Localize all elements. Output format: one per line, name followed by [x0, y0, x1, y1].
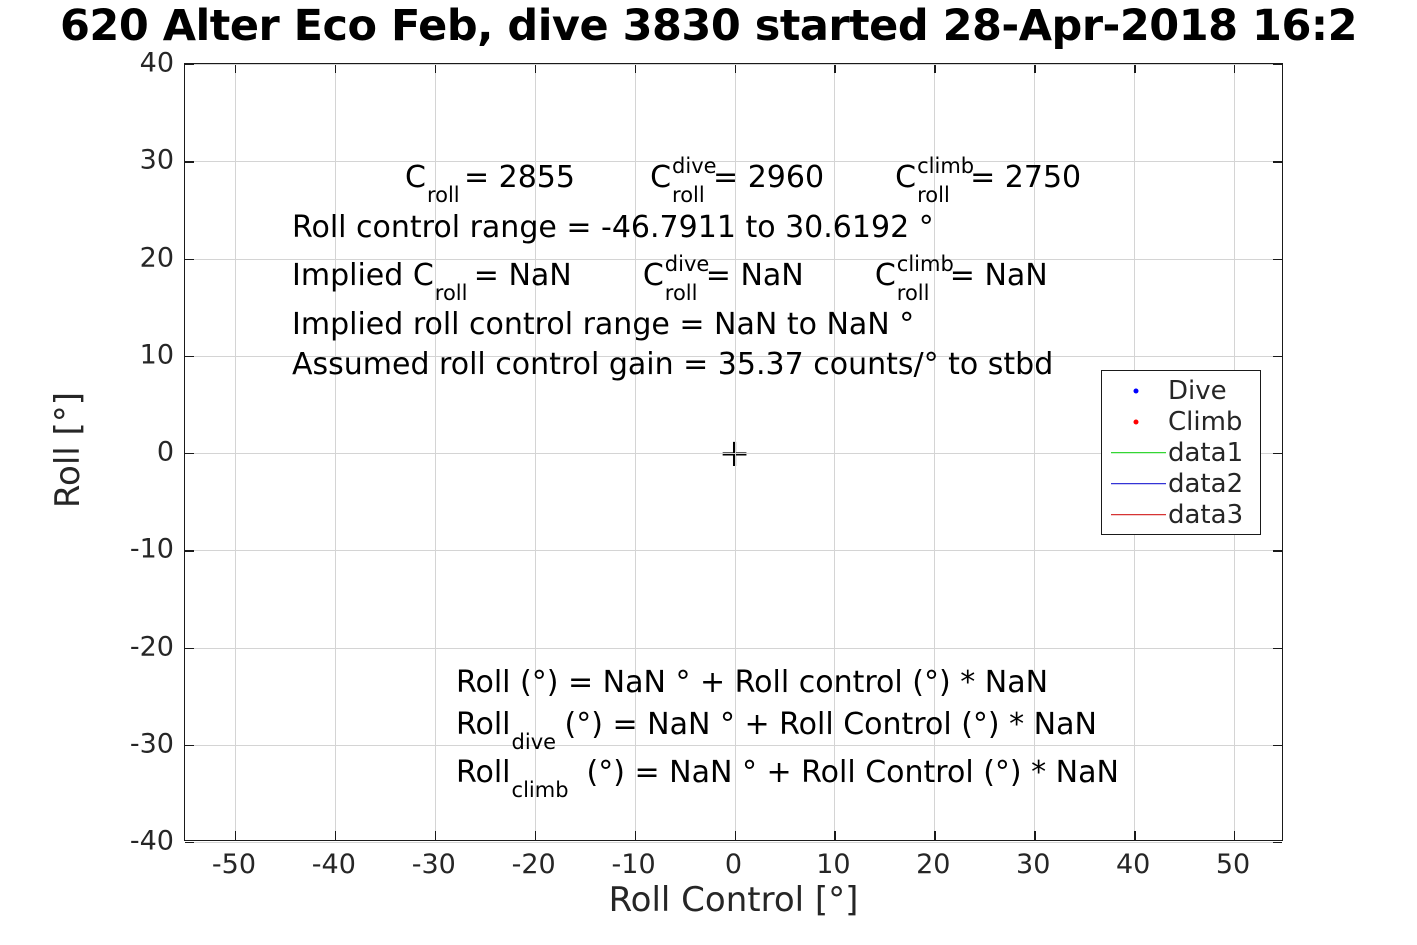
- y-axis-tick-right: [1273, 745, 1282, 746]
- c-roll-climb-symbol: Cclimbroll: [895, 163, 916, 193]
- annotation-c-roll-line: Croll= 2855 Cdiveroll= 2960 Cclimbroll= …: [405, 163, 1081, 193]
- y-tick-label: 30: [92, 145, 174, 176]
- legend-item-data1[interactable]: data1: [1102, 437, 1260, 468]
- y-axis-tick: [185, 550, 194, 551]
- annotation-assumed-roll-control-gain: Assumed roll control gain = 35.37 counts…: [292, 350, 1053, 380]
- x-axis-tick-top: [1034, 64, 1035, 73]
- x-tick-label: 20: [916, 849, 950, 880]
- x-tick-label: 30: [1016, 849, 1050, 880]
- x-axis-tick-top: [735, 64, 736, 73]
- legend-item-data3[interactable]: data3: [1102, 499, 1260, 530]
- y-tick-label: -10: [92, 534, 174, 565]
- figure-canvas: 620 Alter Eco Feb, dive 3830 started 28-…: [0, 0, 1417, 945]
- annotation-roll-dive-equation: Rolldive(°) = NaN ° + Roll Control (°) *…: [456, 710, 1097, 740]
- roll-climb-symbol: Rollclimb: [456, 758, 511, 788]
- implied-c-roll-dive-symbol: Cdiveroll: [643, 261, 664, 291]
- y-axis-tick-right: [1273, 161, 1282, 162]
- y-gridline: [185, 648, 1282, 649]
- c-roll-dive-value: = 2960: [713, 160, 824, 195]
- legend-swatch: [1111, 514, 1166, 516]
- c-roll-climb-value: = 2750: [970, 160, 1081, 195]
- annotation-roll-climb-equation: Rollclimb(°) = NaN ° + Roll Control (°) …: [456, 758, 1119, 788]
- annotation-implied-c-roll-line: Implied Croll= NaN Cdiveroll= NaN Cclimb…: [292, 261, 1048, 291]
- y-axis-tick: [185, 356, 194, 357]
- legend-label: data1: [1168, 440, 1243, 466]
- x-axis-tick: [335, 831, 336, 840]
- legend-line-icon: [1108, 437, 1168, 468]
- x-axis-tick: [1134, 831, 1135, 840]
- y-gridline: [185, 842, 1282, 843]
- y-axis-tick: [185, 64, 194, 65]
- legend-swatch: [1111, 452, 1166, 454]
- x-axis-tick: [435, 831, 436, 840]
- x-tick-label: -10: [612, 849, 656, 880]
- y-axis-tick: [185, 745, 194, 746]
- x-axis-tick-top: [934, 64, 935, 73]
- y-axis-tick-right: [1273, 453, 1282, 454]
- x-tick-label: -30: [412, 849, 456, 880]
- y-axis-label: Roll [°]: [48, 320, 88, 580]
- x-axis-tick-top: [1134, 64, 1135, 73]
- y-axis-tick-right: [1273, 648, 1282, 649]
- y-axis-tick-right: [1273, 550, 1282, 551]
- y-tick-label: -30: [92, 728, 174, 759]
- x-tick-label: 10: [816, 849, 850, 880]
- y-axis-tick-right: [1273, 842, 1282, 843]
- x-tick-label: -20: [512, 849, 556, 880]
- x-axis-tick-top: [235, 64, 236, 73]
- c-roll-symbol: Croll: [405, 163, 426, 193]
- implied-c-roll-climb-symbol: Cclimbroll: [875, 261, 896, 291]
- annotation-roll-equation: Roll (°) = NaN ° + Roll control (°) * Na…: [456, 668, 1048, 698]
- y-axis-tick: [185, 453, 194, 454]
- legend-marker-icon: [1108, 375, 1168, 406]
- x-axis-tick: [934, 831, 935, 840]
- x-axis-tick-top: [535, 64, 536, 73]
- implied-c-roll-climb-value: = NaN: [950, 258, 1048, 293]
- x-axis-tick-top: [1234, 64, 1235, 73]
- annotation-implied-roll-control-range: Implied roll control range = NaN to NaN …: [292, 310, 914, 340]
- y-axis-tick: [185, 161, 194, 162]
- x-tick-label: -40: [312, 849, 356, 880]
- roll-dive-rest: (°) = NaN ° + Roll Control (°) * NaN: [565, 707, 1097, 742]
- x-axis-label: Roll Control [°]: [184, 880, 1283, 920]
- x-tick-label: 50: [1216, 849, 1250, 880]
- c-roll-value: = 2855: [464, 160, 575, 195]
- legend-item-dive[interactable]: Dive: [1102, 375, 1260, 406]
- y-axis-tick-right: [1273, 64, 1282, 65]
- y-tick-label: -20: [92, 631, 174, 662]
- c-roll-dive-symbol: Cdiveroll: [650, 163, 671, 193]
- y-gridline: [185, 64, 1282, 65]
- x-axis-tick-top: [635, 64, 636, 73]
- x-tick-label: 0: [725, 849, 742, 880]
- x-gridline: [235, 64, 236, 840]
- legend-label: Dive: [1168, 378, 1227, 404]
- chart-title: 620 Alter Eco Feb, dive 3830 started 28-…: [0, 2, 1417, 50]
- y-tick-label: 20: [92, 242, 174, 273]
- legend-swatch: [1134, 388, 1139, 393]
- chart-legend[interactable]: DiveClimbdata1data2data3: [1101, 370, 1261, 535]
- x-tick-label: 40: [1116, 849, 1150, 880]
- annotation-roll-control-range: Roll control range = -46.7911 to 30.6192…: [292, 213, 934, 243]
- legend-line-icon: [1108, 499, 1168, 530]
- roll-climb-rest: (°) = NaN ° + Roll Control (°) * NaN: [587, 755, 1119, 790]
- roll-dive-symbol: Rolldive: [456, 710, 511, 740]
- legend-label: Climb: [1168, 409, 1242, 435]
- legend-swatch: [1111, 483, 1166, 485]
- x-axis-tick: [235, 831, 236, 840]
- legend-label: data3: [1168, 502, 1243, 528]
- y-gridline: [185, 745, 1282, 746]
- x-axis-tick-top: [435, 64, 436, 73]
- x-axis-tick: [735, 831, 736, 840]
- implied-c-roll-dive-value: = NaN: [706, 258, 804, 293]
- y-axis-tick-right: [1273, 356, 1282, 357]
- legend-line-icon: [1108, 468, 1168, 499]
- x-axis-tick: [834, 831, 835, 840]
- y-tick-label: -40: [92, 826, 174, 857]
- legend-label: data2: [1168, 471, 1243, 497]
- y-axis-tick: [185, 648, 194, 649]
- x-axis-tick: [1234, 831, 1235, 840]
- y-gridline: [185, 550, 1282, 551]
- x-tick-label: -50: [212, 849, 256, 880]
- y-tick-label: 0: [92, 437, 174, 468]
- x-axis-tick: [535, 831, 536, 840]
- y-tick-label: 40: [92, 48, 174, 79]
- x-axis-tick: [1034, 831, 1035, 840]
- x-axis-tick: [635, 831, 636, 840]
- legend-swatch: [1134, 419, 1139, 424]
- legend-item-climb[interactable]: Climb: [1102, 406, 1260, 437]
- legend-item-data2[interactable]: data2: [1102, 468, 1260, 499]
- x-gridline: [335, 64, 336, 840]
- y-axis-tick: [185, 842, 194, 843]
- y-tick-label: 10: [92, 339, 174, 370]
- x-axis-tick-top: [335, 64, 336, 73]
- implied-c-roll-value: = NaN: [474, 258, 572, 293]
- x-axis-tick-top: [834, 64, 835, 73]
- legend-marker-icon: [1108, 406, 1168, 437]
- implied-c-roll-symbol: Implied Croll: [292, 261, 434, 291]
- y-axis-tick: [185, 259, 194, 260]
- y-axis-tick-right: [1273, 259, 1282, 260]
